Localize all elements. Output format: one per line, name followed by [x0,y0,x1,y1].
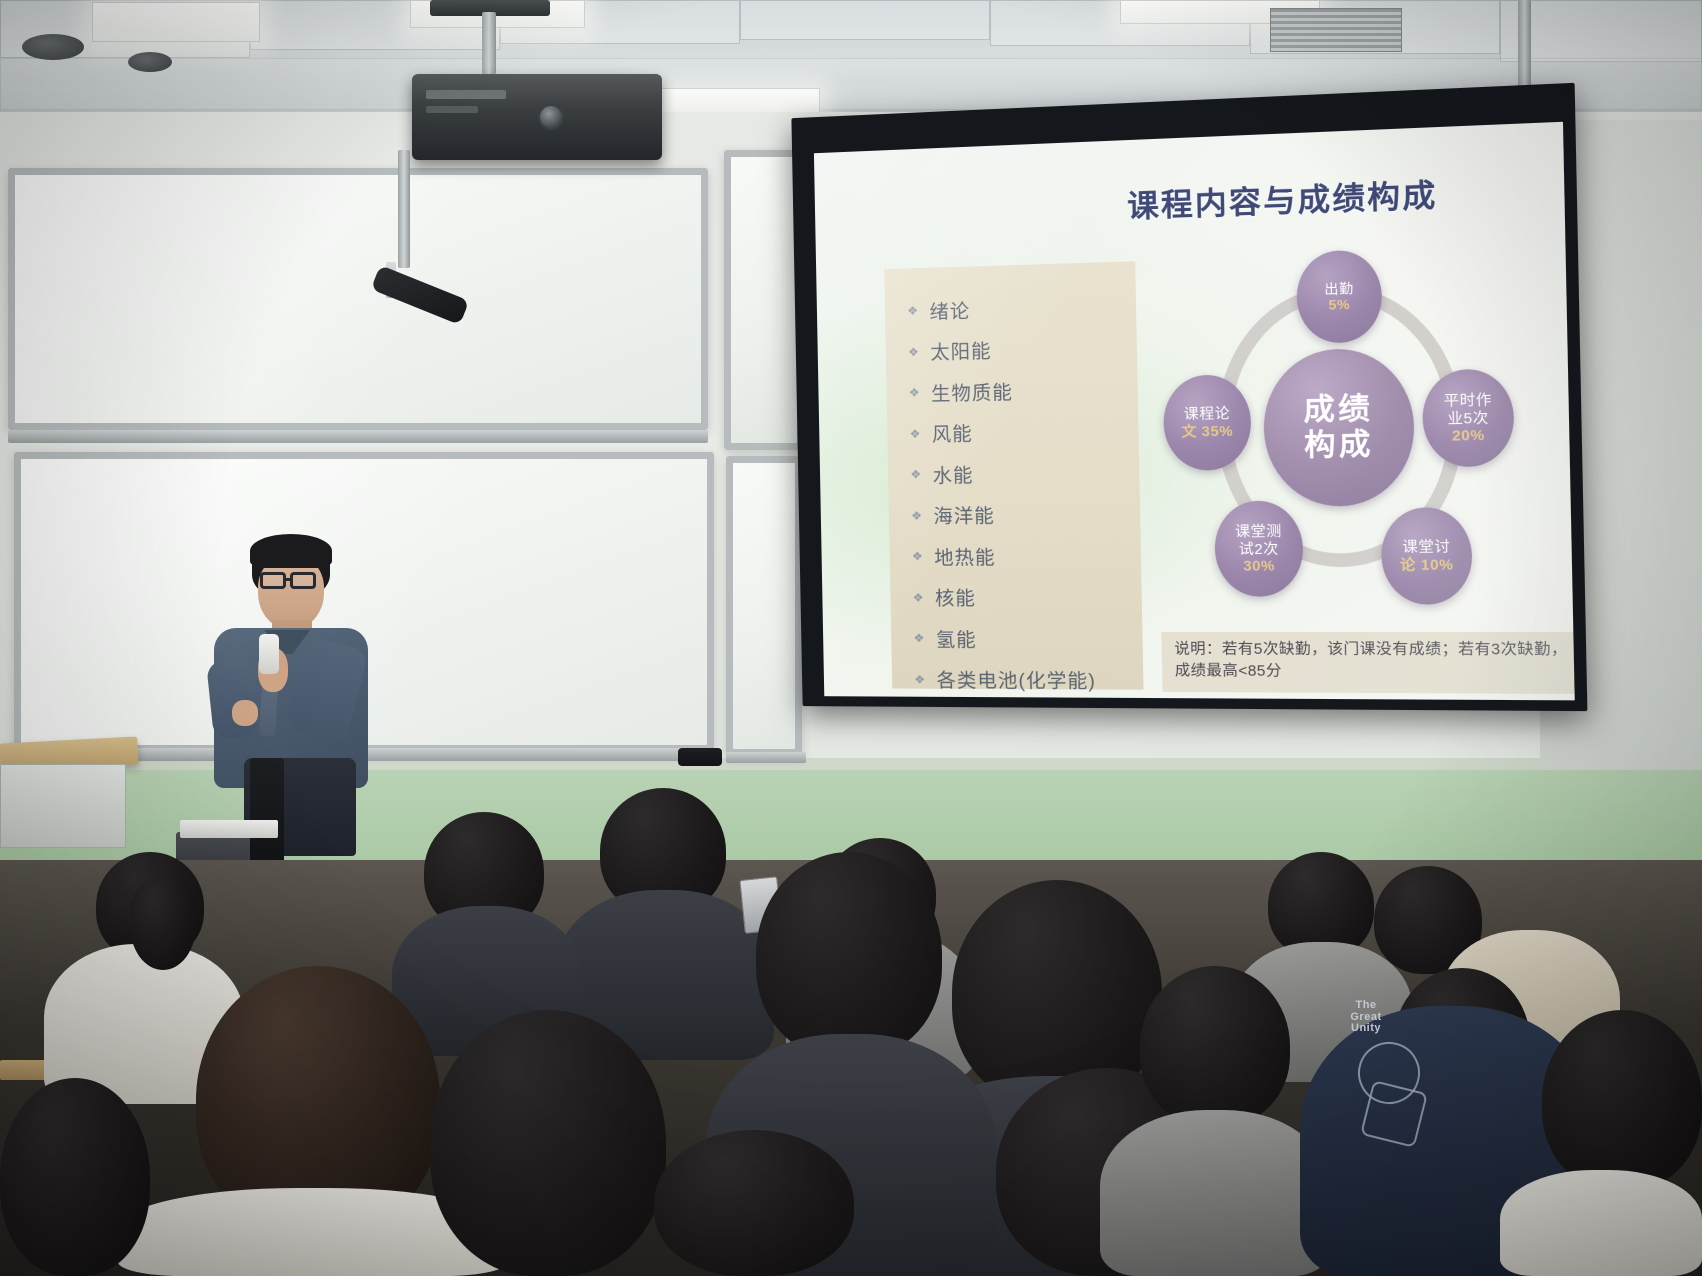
list-item: ❖ 各类电池(化学能) [914,659,1144,701]
audience-body [1100,1110,1330,1276]
audience-head [756,852,942,1058]
whiteboard-lower-right [726,456,802,756]
list-item: ❖ 水能 [910,451,1140,495]
node-label: 平时作 [1443,391,1492,409]
smoke-detector [22,34,84,60]
glasses-bridge [286,578,292,581]
podium-stand [250,758,284,868]
front-desk-panel [0,764,126,848]
node-label-2: 论 10% [1400,556,1454,574]
bullet-label: 核能 [935,584,976,612]
board-rail [726,752,806,763]
slide-surface: 课程内容与成绩构成 ❖ 绪论 ❖ 太阳能 ❖ 生物质能 ❖ 风能 [814,122,1575,701]
diamond-bullet-icon: ❖ [913,632,936,644]
list-item: ❖ 绪论 [907,284,1137,332]
projector-lens-icon [538,104,564,130]
mic-drop-pole [398,150,410,268]
node-label-2: 文 35% [1181,422,1233,440]
bullet-label: 风能 [932,419,973,447]
list-item: ❖ 核能 [912,576,1142,618]
audience-ponytail [130,880,196,970]
classroom-photo: 课程内容与成绩构成 ❖ 绪论 ❖ 太阳能 ❖ 生物质能 ❖ 风能 [0,0,1702,1276]
bullet-label: 生物质能 [931,377,1013,406]
diamond-bullet-icon: ❖ [913,591,936,603]
glasses-right-icon [290,572,316,589]
slide-title: 课程内容与成绩构成 [815,166,1522,237]
bullet-label: 水能 [932,460,973,488]
projection-screen: 课程内容与成绩构成 ❖ 绪论 ❖ 太阳能 ❖ 生物质能 ❖ 风能 [791,83,1587,711]
node-percent: 20% [1452,427,1485,445]
audience-head [1140,966,1290,1126]
podium-paper [180,820,278,838]
diagram-node-discussion: 课堂讨 论 10% [1380,507,1472,605]
list-item: ❖ 太阳能 [908,326,1138,373]
tee-text: The Great Unity [1318,1000,1414,1035]
node-label: 课堂讨 [1402,538,1450,556]
ceiling-tile [740,0,990,40]
bullet-label: 氢能 [936,625,977,652]
diamond-bullet-icon: ❖ [908,345,931,358]
bullet-label: 各类电池(化学能) [936,666,1096,694]
list-item: ❖ 生物质能 [908,367,1138,413]
diamond-bullet-icon: ❖ [914,673,937,685]
grade-composition-diagram: 成绩 构成 出勤 5% 平时作 业5次 20% 课堂讨 论 10% [1154,250,1555,666]
node-label-2: 业5次 [1447,409,1489,427]
audience-head [1542,1010,1702,1190]
diamond-bullet-icon: ❖ [907,304,930,317]
node-label: 课程论 [1184,405,1231,423]
audience-head [0,1078,150,1276]
list-item: ❖ 海洋能 [911,492,1141,536]
tee-text-line-1: The [1318,1000,1414,1012]
list-item: ❖ 氢能 [913,618,1143,660]
board-rail [8,430,708,443]
smoke-detector [128,52,172,72]
bullet-label: 绪论 [929,296,970,324]
audience-head [654,1130,854,1276]
whiteboard-upper-left [8,168,708,430]
diagram-node-quiz: 课堂测 试2次 30% [1214,500,1304,596]
note-line-2: 成绩最高<85分 [1175,661,1575,684]
handheld-microphone [259,634,279,674]
node-label-2: 试2次 [1239,540,1279,557]
ceiling-vent [1270,8,1402,52]
audience-head [430,1010,666,1276]
note-line-1: 说明：若有5次缺勤，该门课没有成绩；若有3次缺勤， [1174,639,1575,662]
node-label: 课堂测 [1235,523,1282,541]
glasses-left-icon [260,572,286,589]
diamond-bullet-icon: ❖ [911,509,934,521]
ceiling-light [92,2,260,42]
tee-text-line-3: Unity [1318,1023,1414,1035]
center-label-1: 成绩 [1303,391,1373,428]
diagram-node-homework: 平时作 业5次 20% [1422,368,1515,467]
diamond-bullet-icon: ❖ [910,468,933,480]
list-item: ❖ 地热能 [912,534,1142,577]
diamond-bullet-icon: ❖ [909,386,932,399]
desk-device [678,748,722,766]
presenter-hair-front [250,534,332,568]
presenter-left-arm [206,658,258,740]
slide-note: 说明：若有5次缺勤，该门课没有成绩；若有3次缺勤， 成绩最高<85分 [1161,632,1574,694]
presenter-left-hand [232,700,258,726]
bullet-label: 太阳能 [930,336,992,365]
projector [412,74,662,160]
diamond-bullet-icon: ❖ [912,550,935,562]
list-item: ❖ 风能 [909,409,1139,454]
diamond-bullet-icon: ❖ [909,427,932,440]
center-label-2: 构成 [1304,427,1374,464]
slide-bullet-panel: ❖ 绪论 ❖ 太阳能 ❖ 生物质能 ❖ 风能 ❖ 水能 [884,261,1143,689]
bullet-label: 海洋能 [933,501,995,529]
node-percent: 30% [1243,557,1275,574]
bullet-label: 地热能 [934,542,996,570]
node-percent: 5% [1328,296,1350,313]
projector-drop-pole [482,12,496,74]
node-label: 出勤 [1324,280,1354,297]
audience-body [1500,1170,1702,1276]
